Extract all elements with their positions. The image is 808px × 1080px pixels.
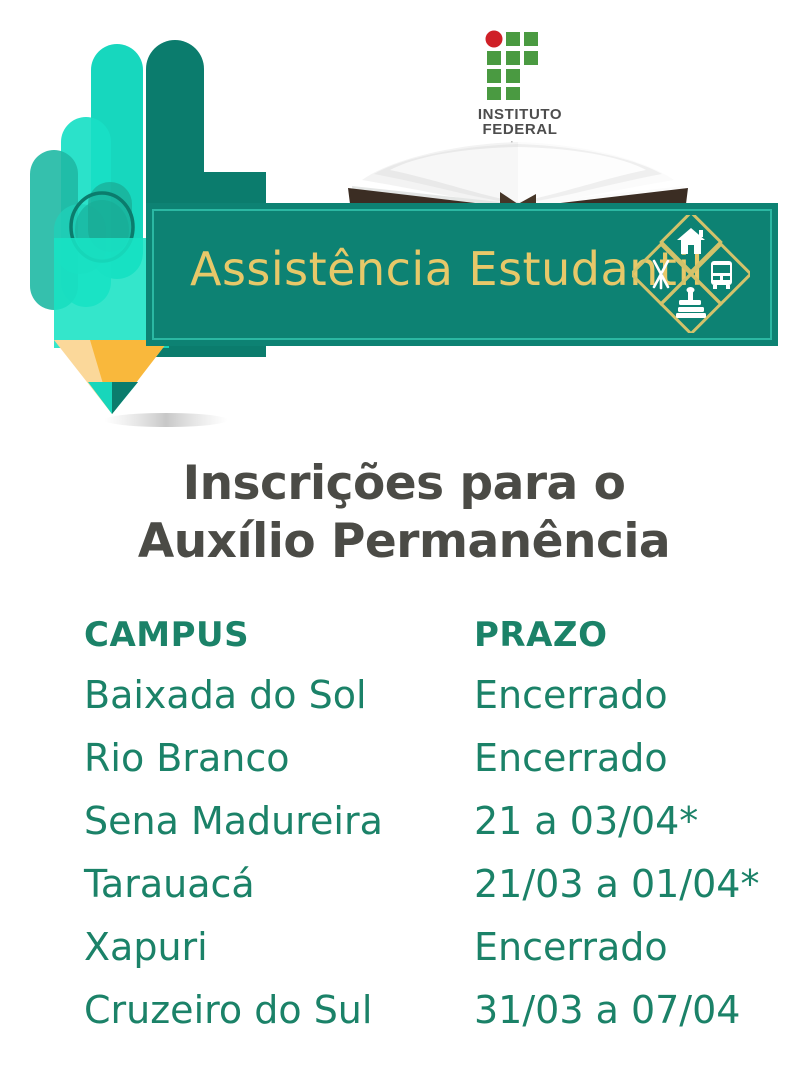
table-header-row: CAMPUS PRAZO (0, 613, 808, 673)
table-row: Cruzeiro do Sul 31/03 a 07/04 (0, 988, 808, 1051)
column-header-campus: CAMPUS (84, 613, 474, 657)
cell-campus: Rio Branco (84, 736, 474, 780)
column-header-prazo: PRAZO (474, 613, 808, 657)
cell-campus: Xapuri (84, 925, 474, 969)
page-title-line-2: Auxílio Permanência (0, 513, 808, 571)
cell-campus: Baixada do Sol (84, 673, 474, 717)
cell-campus: Cruzeiro do Sul (84, 988, 474, 1032)
house-icon (677, 228, 705, 254)
cutlery-icon (654, 261, 668, 288)
table-row: Sena Madureira 21 a 03/04* (0, 799, 808, 862)
banner-title: Assistência Estudantil (190, 239, 704, 299)
books-icon (676, 287, 706, 318)
table-row: Xapuri Encerrado (0, 925, 808, 988)
cell-prazo: 31/03 a 07/04 (474, 988, 808, 1032)
hero-artwork: INSTITUTO FEDERAL Acre Assistência Estud… (0, 0, 808, 455)
bus-icon (711, 261, 732, 289)
banner-diamond-icons (632, 215, 750, 333)
assistencia-estudantil-banner: Assistência Estudantil (146, 203, 778, 346)
cell-prazo: Encerrado (474, 925, 808, 969)
cell-prazo: 21/03 a 01/04* (474, 862, 808, 906)
instituto-federal-mark-icon (482, 30, 558, 102)
page-title-line-1: Inscrições para o (0, 455, 808, 513)
table-row: Baixada do Sol Encerrado (0, 673, 808, 736)
table-row: Tarauacá 21/03 a 01/04* (0, 862, 808, 925)
page-title: Inscrições para o Auxílio Permanência (0, 455, 808, 571)
cell-campus: Tarauacá (84, 862, 474, 906)
cell-prazo: 21 a 03/04* (474, 799, 808, 843)
schedule-table: CAMPUS PRAZO Baixada do Sol Encerrado Ri… (0, 613, 808, 1051)
cell-campus: Sena Madureira (84, 799, 474, 843)
cell-prazo: Encerrado (474, 673, 808, 717)
cell-prazo: Encerrado (474, 736, 808, 780)
table-row: Rio Branco Encerrado (0, 736, 808, 799)
